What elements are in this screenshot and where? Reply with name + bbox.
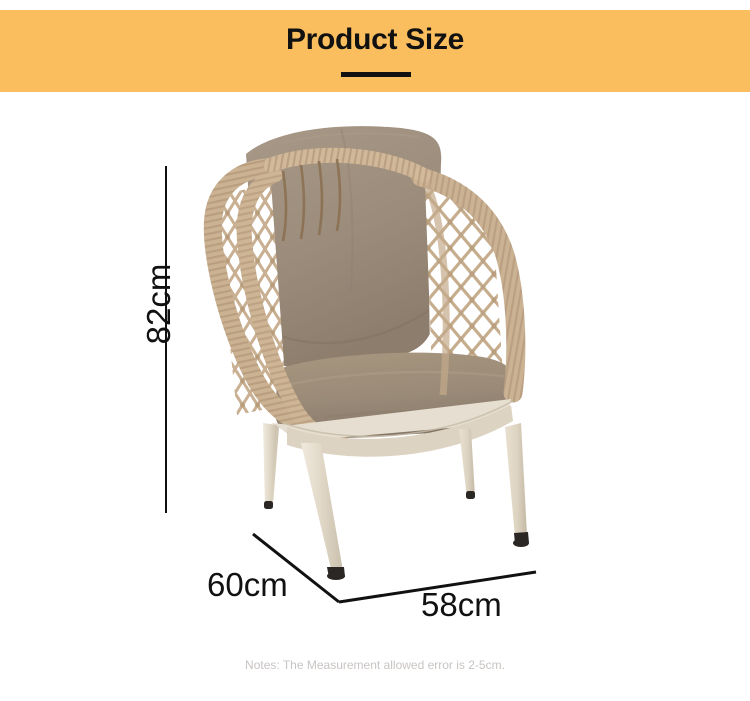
armchair-illustration xyxy=(175,105,555,595)
product-size-page: Product Size xyxy=(0,0,750,701)
height-dimension-label: 82cm xyxy=(140,249,178,359)
title-underline-accent xyxy=(341,72,411,77)
product-image-armchair xyxy=(175,105,555,595)
leg-front-right xyxy=(505,423,529,547)
leg-back-right xyxy=(459,429,475,499)
leg-back-left xyxy=(263,423,279,509)
leg-front-left xyxy=(301,443,345,580)
measurement-notes: Notes: The Measurement allowed error is … xyxy=(0,657,750,673)
depth-dimension-label: 60cm xyxy=(207,566,288,604)
width-dimension-label: 58cm xyxy=(421,586,502,624)
page-title: Product Size xyxy=(0,22,750,58)
